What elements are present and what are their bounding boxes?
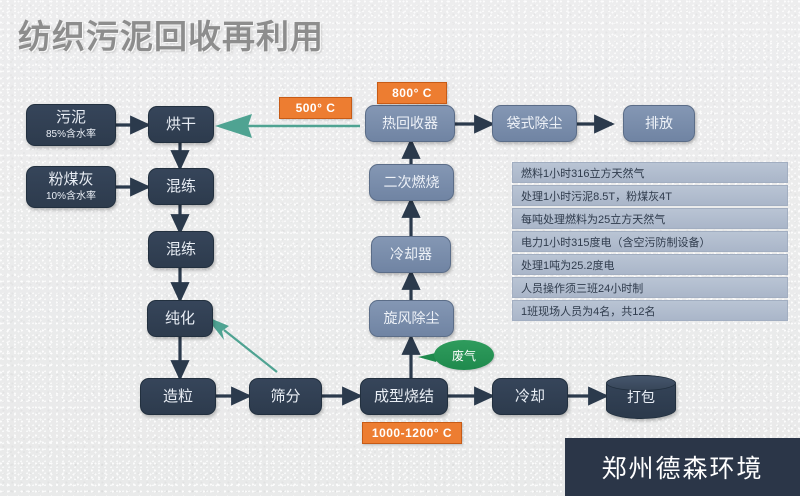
node-cooling[interactable]: 冷却 bbox=[492, 378, 568, 415]
temp-tag-sintering: 1000-1200° C bbox=[362, 422, 462, 444]
specifications-list: 燃料1小时316立方天然气 处理1小时污泥8.5T，粉煤灰4T 每吨处理燃料为2… bbox=[512, 162, 788, 321]
spec-row: 燃料1小时316立方天然气 bbox=[512, 162, 788, 183]
node-cooling-label: 冷却 bbox=[515, 388, 545, 406]
node-emission[interactable]: 排放 bbox=[623, 105, 695, 142]
diagram-canvas: 纺织污泥回收再利用 bbox=[0, 0, 800, 496]
node-mixing-2-label: 混练 bbox=[166, 241, 196, 259]
node-packing[interactable]: 打包 bbox=[606, 375, 676, 419]
spec-row: 处理1小时污泥8.5T，粉煤灰4T bbox=[512, 185, 788, 206]
temp-tag-heat-recovery: 800° C bbox=[377, 82, 447, 104]
node-screening-label: 筛分 bbox=[270, 388, 300, 406]
brand-label: 郑州德森环境 bbox=[601, 449, 763, 485]
node-granulation-label: 造粒 bbox=[163, 388, 193, 406]
node-purification[interactable]: 纯化 bbox=[147, 300, 213, 337]
node-drying-label: 烘干 bbox=[166, 116, 196, 134]
node-fly-ash-label: 粉煤灰 bbox=[48, 171, 93, 189]
page-title: 纺织污泥回收再利用 bbox=[18, 10, 324, 58]
node-purification-label: 纯化 bbox=[165, 310, 195, 328]
node-bag-filter-label: 袋式除尘 bbox=[507, 115, 563, 132]
node-granulation[interactable]: 造粒 bbox=[140, 378, 216, 415]
node-fly-ash[interactable]: 粉煤灰 10%含水率 bbox=[26, 166, 116, 208]
node-cooler[interactable]: 冷却器 bbox=[371, 236, 451, 273]
node-cyclone[interactable]: 旋风除尘 bbox=[369, 300, 454, 337]
node-secondary-burn-label: 二次燃烧 bbox=[384, 174, 440, 191]
brand-footer: 郑州德森环境 bbox=[565, 438, 800, 496]
node-sludge-label: 污泥 bbox=[56, 109, 86, 127]
node-sintering[interactable]: 成型烧结 bbox=[360, 378, 448, 415]
node-drying[interactable]: 烘干 bbox=[148, 106, 214, 143]
node-bag-filter[interactable]: 袋式除尘 bbox=[492, 105, 577, 142]
callout-waste-gas: 废气 bbox=[434, 340, 494, 370]
node-cooler-label: 冷却器 bbox=[390, 246, 432, 263]
node-screening[interactable]: 筛分 bbox=[249, 378, 322, 415]
spec-row: 1班现场人员为4名，共12名 bbox=[512, 300, 788, 321]
node-heat-recovery[interactable]: 热回收器 bbox=[365, 105, 455, 142]
node-mixing-1-label: 混练 bbox=[166, 178, 196, 196]
node-sludge[interactable]: 污泥 85%含水率 bbox=[26, 104, 116, 146]
node-heat-recovery-label: 热回收器 bbox=[382, 115, 438, 132]
node-secondary-burn[interactable]: 二次燃烧 bbox=[369, 164, 454, 201]
node-fly-ash-sub: 10%含水率 bbox=[46, 191, 96, 203]
temp-tag-drying: 500° C bbox=[279, 97, 352, 119]
spec-row: 人员操作须三班24小时制 bbox=[512, 277, 788, 298]
node-cyclone-label: 旋风除尘 bbox=[384, 310, 440, 327]
node-sludge-sub: 85%含水率 bbox=[46, 129, 96, 141]
node-packing-label: 打包 bbox=[627, 387, 655, 407]
spec-row: 处理1吨为25.2度电 bbox=[512, 254, 788, 275]
node-mixing-1[interactable]: 混练 bbox=[148, 168, 214, 205]
node-mixing-2[interactable]: 混练 bbox=[148, 231, 214, 268]
spec-row: 每吨处理燃料为25立方天然气 bbox=[512, 208, 788, 229]
spec-row: 电力1小时315度电（含空污防制设备） bbox=[512, 231, 788, 252]
node-sintering-label: 成型烧结 bbox=[374, 388, 434, 406]
node-emission-label: 排放 bbox=[645, 115, 673, 132]
